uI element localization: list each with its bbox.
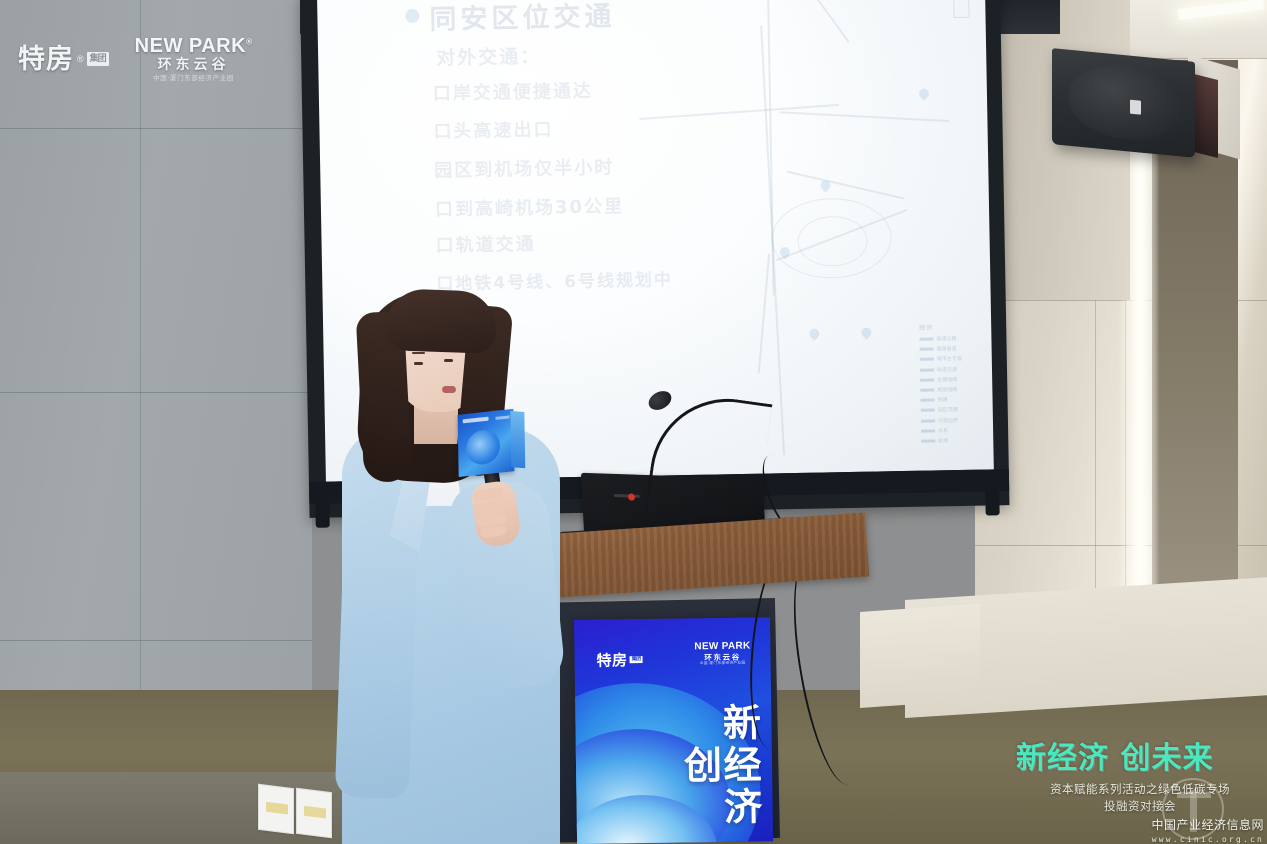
wall-outlet-right[interactable] xyxy=(296,788,332,838)
map-legend-label: 轨道交通 xyxy=(937,366,957,373)
map-legend-row: 水系 xyxy=(921,426,983,434)
map-legend-label: 规划线路 xyxy=(937,386,957,393)
slide-bullet-1: 口岸交通便捷通达 xyxy=(433,77,593,106)
slide-bullet-2: 口头高速出口 xyxy=(433,115,553,143)
slide-bullet-0: 对外交通： xyxy=(436,42,541,71)
watermark-sub2: 投融资对接会 xyxy=(1016,798,1264,814)
presentation-photo-scene: 特房 ® 集团 NEW PARK® 环东云谷 中国·厦门东部经济产业园 同安区位… xyxy=(0,0,1267,844)
map-legend: 图例 高速公路 国道省道 城市主干道 轨道交通 在建线路 规划线路 铁路 园区范… xyxy=(919,322,983,448)
wall-speaker-jbl-icon xyxy=(1052,48,1195,158)
newpark-logo-cn: 环东云谷 xyxy=(135,58,253,72)
map-legend-label: 在建线路 xyxy=(937,376,957,383)
map-legend-row: 轨道交通 xyxy=(920,365,982,373)
slide-title-bullet-icon xyxy=(405,9,419,23)
slide-title: 同安区位交通 xyxy=(429,0,616,37)
slide-bullet-4: 口到高崎机场30公里 xyxy=(435,192,625,221)
map-north-indicator-icon xyxy=(953,0,969,18)
baseboard-right-2 xyxy=(860,604,980,708)
map-legend-row: 高速公路 xyxy=(919,335,981,343)
map-legend-label: 行政边界 xyxy=(938,417,958,424)
map-legend-label: 国道省道 xyxy=(937,345,957,352)
watermark-seal-icon xyxy=(1162,778,1224,840)
speaker-person xyxy=(336,286,581,844)
map-legend-label: 城市主干道 xyxy=(937,355,962,362)
map-legend-row: 在建线路 xyxy=(920,375,982,383)
map-legend-title: 图例 xyxy=(919,322,981,332)
newpark-logo-en: NEW PARK® xyxy=(135,36,253,56)
screen-leg-right xyxy=(985,489,999,515)
map-legend-row: 规划线路 xyxy=(920,386,982,394)
map-legend-row: 行政边界 xyxy=(921,416,983,424)
wall-outlet-left[interactable] xyxy=(258,784,294,834)
tefang-logo-cn: 特房 xyxy=(18,46,74,73)
tefang-logo: 特房 ® 集团 xyxy=(18,46,109,73)
map-legend-label: 铁路 xyxy=(937,396,947,403)
newpark-logo-en-text: NEW PARK xyxy=(135,35,246,57)
speaker-hair-front xyxy=(385,288,497,354)
watermark-site-name: 中国产业经济信息网 xyxy=(1016,816,1264,833)
tefang-logo-sup: ® xyxy=(77,54,84,64)
newpark-logo: NEW PARK® 环东云谷 中国·厦门东部经济产业园 xyxy=(135,36,253,82)
map-legend-label: 机场 xyxy=(938,437,948,444)
banner-newpark-en: NEW PARK xyxy=(694,642,750,653)
watermark-url: www.cinic.org.cn xyxy=(1016,835,1264,844)
newpark-logo-sup: ® xyxy=(246,38,252,47)
watermark-title: 新经济 创未来 xyxy=(1016,744,1264,774)
slide-bullet-3: 园区到机场仅半小时 xyxy=(434,153,614,182)
banner-tefang-cn: 特房 xyxy=(596,649,627,670)
map-legend-row: 国道省道 xyxy=(920,345,982,353)
podium-banner: 特房 集团 NEW PARK 环东云谷 中国·厦门东部经济产业园 新经济 创 xyxy=(574,617,773,844)
tefang-logo-badge: 集团 xyxy=(87,52,109,65)
newpark-logo-sub: 中国·厦门东部经济产业园 xyxy=(135,75,253,82)
banner-tefang-badge: 集团 xyxy=(630,656,643,664)
map-legend-row: 机场 xyxy=(921,436,983,444)
wall-branding: 特房 ® 集团 NEW PARK® 环东云谷 中国·厦门东部经济产业园 xyxy=(18,28,288,90)
map-legend-row: 园区范围 xyxy=(921,406,983,414)
speaker-lips xyxy=(442,386,456,393)
slide-bullet-5: 口轨道交通 xyxy=(435,230,535,258)
banner-newpark-logo: NEW PARK 环东云谷 中国·厦门东部经济产业园 xyxy=(694,642,750,667)
laptop-logo-dot-icon xyxy=(628,493,635,500)
slide-map: 图例 高速公路 国道省道 城市主干道 轨道交通 在建线路 规划线路 铁路 园区范… xyxy=(617,0,994,476)
watermark-sub1: 资本赋能系列活动之绿色低碳专场 xyxy=(1016,781,1264,797)
map-legend-row: 铁路 xyxy=(920,396,982,404)
mic-flag-branding xyxy=(458,409,515,477)
map-legend-label: 高速公路 xyxy=(936,335,956,342)
watermark: 新经济 创未来 资本赋能系列活动之绿色低碳专场 投融资对接会 中国产业经济信息网… xyxy=(1016,744,1264,840)
map-legend-label: 水系 xyxy=(938,427,948,434)
banner-tefang-logo: 特房 集团 xyxy=(596,649,642,671)
map-legend-row: 城市主干道 xyxy=(920,355,982,363)
map-legend-label: 园区范围 xyxy=(938,406,958,413)
screen-leg-left xyxy=(315,502,329,528)
banner-newpark-sub: 中国·厦门东部经济产业园 xyxy=(695,662,751,667)
